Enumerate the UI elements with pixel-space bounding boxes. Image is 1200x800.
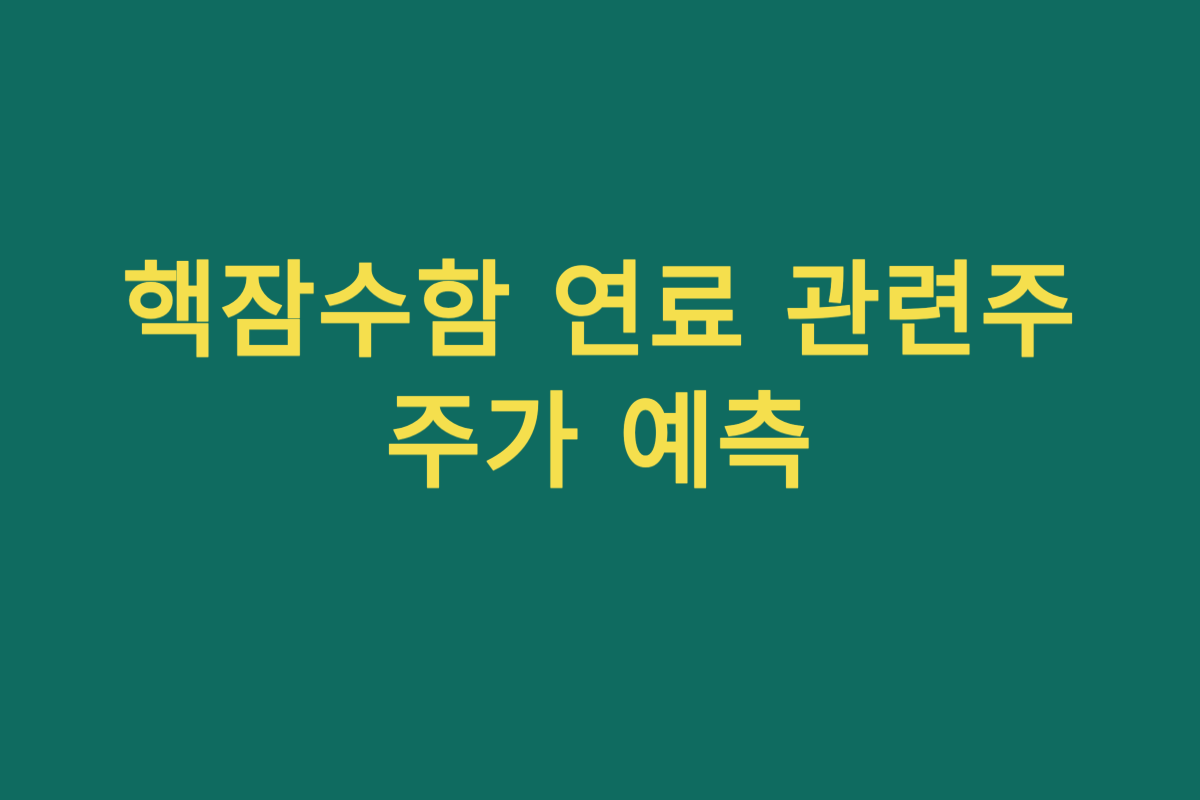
thumbnail-canvas: 핵잠수함 연료 관련주 주가 예측 bbox=[0, 0, 1200, 800]
headline-line-1: 핵잠수함 연료 관련주 bbox=[122, 248, 1078, 375]
headline-text-block: 핵잠수함 연료 관련주 주가 예측 bbox=[0, 0, 1200, 800]
headline-line-2: 주가 예측 bbox=[386, 379, 815, 506]
